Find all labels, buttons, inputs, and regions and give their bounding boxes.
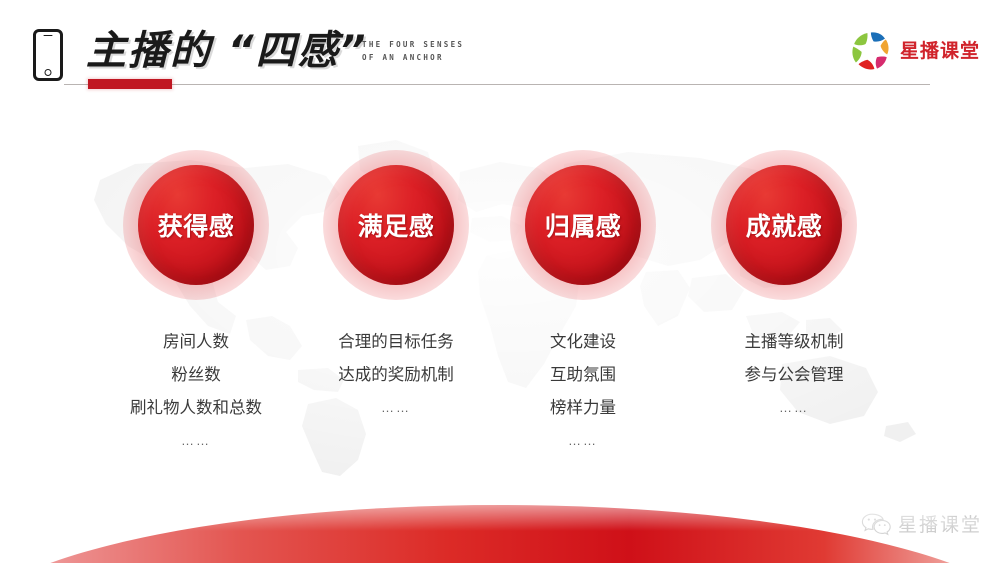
- list-item: 参与公会管理: [709, 358, 879, 391]
- list-item: 文化建设: [513, 325, 653, 358]
- list-item: 粉丝数: [96, 358, 296, 391]
- list-item: 主播等级机制: [709, 325, 879, 358]
- brand-name: 星播课堂: [900, 29, 980, 73]
- sense-node-1[interactable]: 获得感: [121, 150, 271, 300]
- sense-circles-row: 获得感 满足感 归属感 成就感: [0, 150, 1000, 300]
- detail-column-1: 房间人数 粉丝数 刷礼物人数和总数 ……: [96, 325, 296, 458]
- smartphone-icon: [33, 29, 63, 81]
- slide-canvas: 主播的 “四感” THE FOUR SENSES OF AN ANCHOR 星播…: [0, 0, 1000, 563]
- page-title: 主播的 “四感”: [86, 27, 367, 75]
- detail-column-4: 主播等级机制 参与公会管理 ……: [709, 325, 879, 425]
- circle-badge-4: 成就感: [726, 165, 842, 285]
- sense-node-4[interactable]: 成就感: [709, 150, 859, 300]
- sense-node-3[interactable]: 归属感: [508, 150, 658, 300]
- header-divider: [64, 84, 930, 85]
- sense-label-1: 获得感: [158, 207, 235, 243]
- sense-node-2[interactable]: 满足感: [321, 150, 471, 300]
- detail-column-2: 合理的目标任务 达成的奖励机制 ……: [311, 325, 481, 425]
- sense-details-row: 房间人数 粉丝数 刷礼物人数和总数 …… 合理的目标任务 达成的奖励机制 …… …: [0, 325, 1000, 465]
- brand-logo: 星播课堂: [848, 29, 980, 73]
- circle-badge-1: 获得感: [138, 165, 254, 285]
- sense-label-2: 满足感: [358, 207, 435, 243]
- list-item: 合理的目标任务: [311, 325, 481, 358]
- bottom-red-arc: [0, 505, 1000, 563]
- list-ellipsis: ……: [311, 391, 481, 425]
- list-item: 房间人数: [96, 325, 296, 358]
- list-ellipsis: ……: [709, 391, 879, 425]
- list-ellipsis: ……: [513, 424, 653, 458]
- list-item: 互助氛围: [513, 358, 653, 391]
- sense-label-4: 成就感: [746, 207, 823, 243]
- list-item: 榜样力量: [513, 391, 653, 424]
- sense-label-3: 归属感: [545, 207, 622, 243]
- header-accent-bar: [88, 79, 172, 89]
- page-subtitle-english: THE FOUR SENSES OF AN ANCHOR: [362, 38, 464, 64]
- detail-column-3: 文化建设 互助氛围 榜样力量 ……: [513, 325, 653, 458]
- circle-badge-2: 满足感: [338, 165, 454, 285]
- list-ellipsis: ……: [96, 424, 296, 458]
- circle-badge-3: 归属感: [525, 165, 641, 285]
- star-broadcast-logo-icon: [848, 29, 892, 73]
- list-item: 刷礼物人数和总数: [96, 391, 296, 424]
- list-item: 达成的奖励机制: [311, 358, 481, 391]
- slide-header: 主播的 “四感” THE FOUR SENSES OF AN ANCHOR 星播…: [0, 0, 1000, 110]
